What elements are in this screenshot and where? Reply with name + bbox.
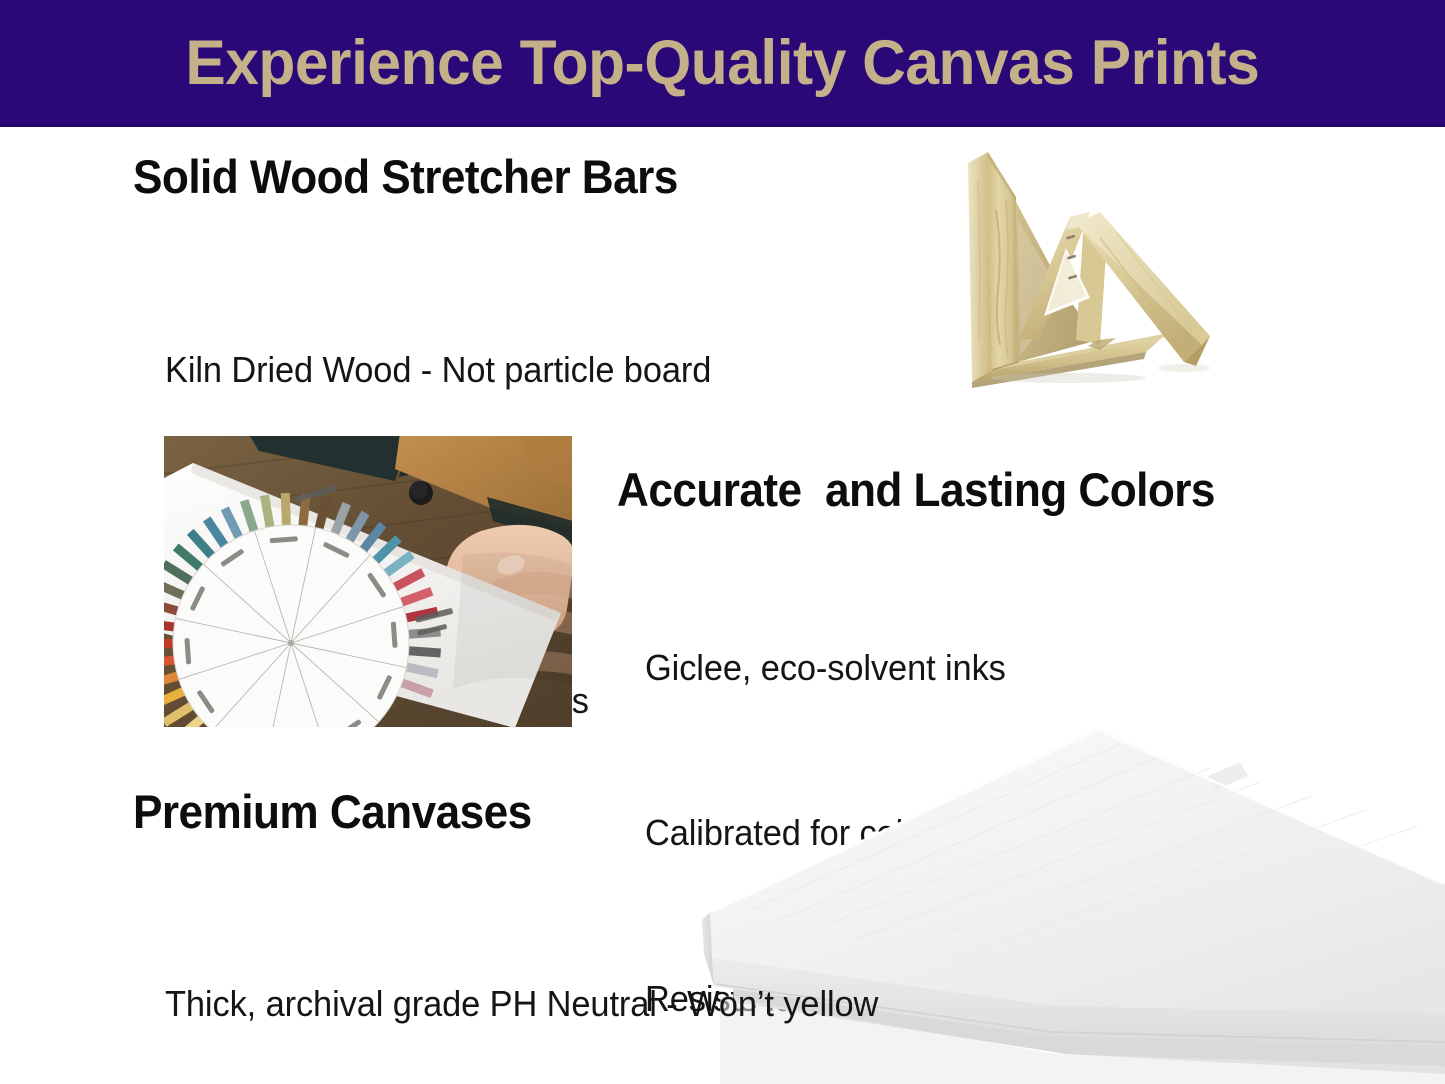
feature-line: Kiln Dried Wood - Not particle board [165,342,711,397]
page-title: Experience Top-Quality Canvas Prints [186,32,1260,95]
feature-heading-canvases: Premium Canvases [133,787,532,836]
feature-line: Giclee, eco-solvent inks [645,640,1176,695]
feature-lines-canvases: Thick, archival grade PH Neutral - Won’t… [165,866,1053,1084]
infographic-page: Experience Top-Quality Canvas Prints Sol… [0,0,1445,1084]
feature-line: Thick, archival grade PH Neutral - Won’t… [165,976,1053,1031]
header-banner: Experience Top-Quality Canvas Prints [0,0,1445,127]
feature-heading-stretcher-bars: Solid Wood Stretcher Bars [133,152,678,201]
feature-heading-colors: Accurate and Lasting Colors [617,465,1215,514]
color-wheel-chart-photo [163,435,573,728]
feature-line: Calibrated for color accuracy [645,805,1176,860]
wood-stretcher-bars-photo [948,140,1224,408]
